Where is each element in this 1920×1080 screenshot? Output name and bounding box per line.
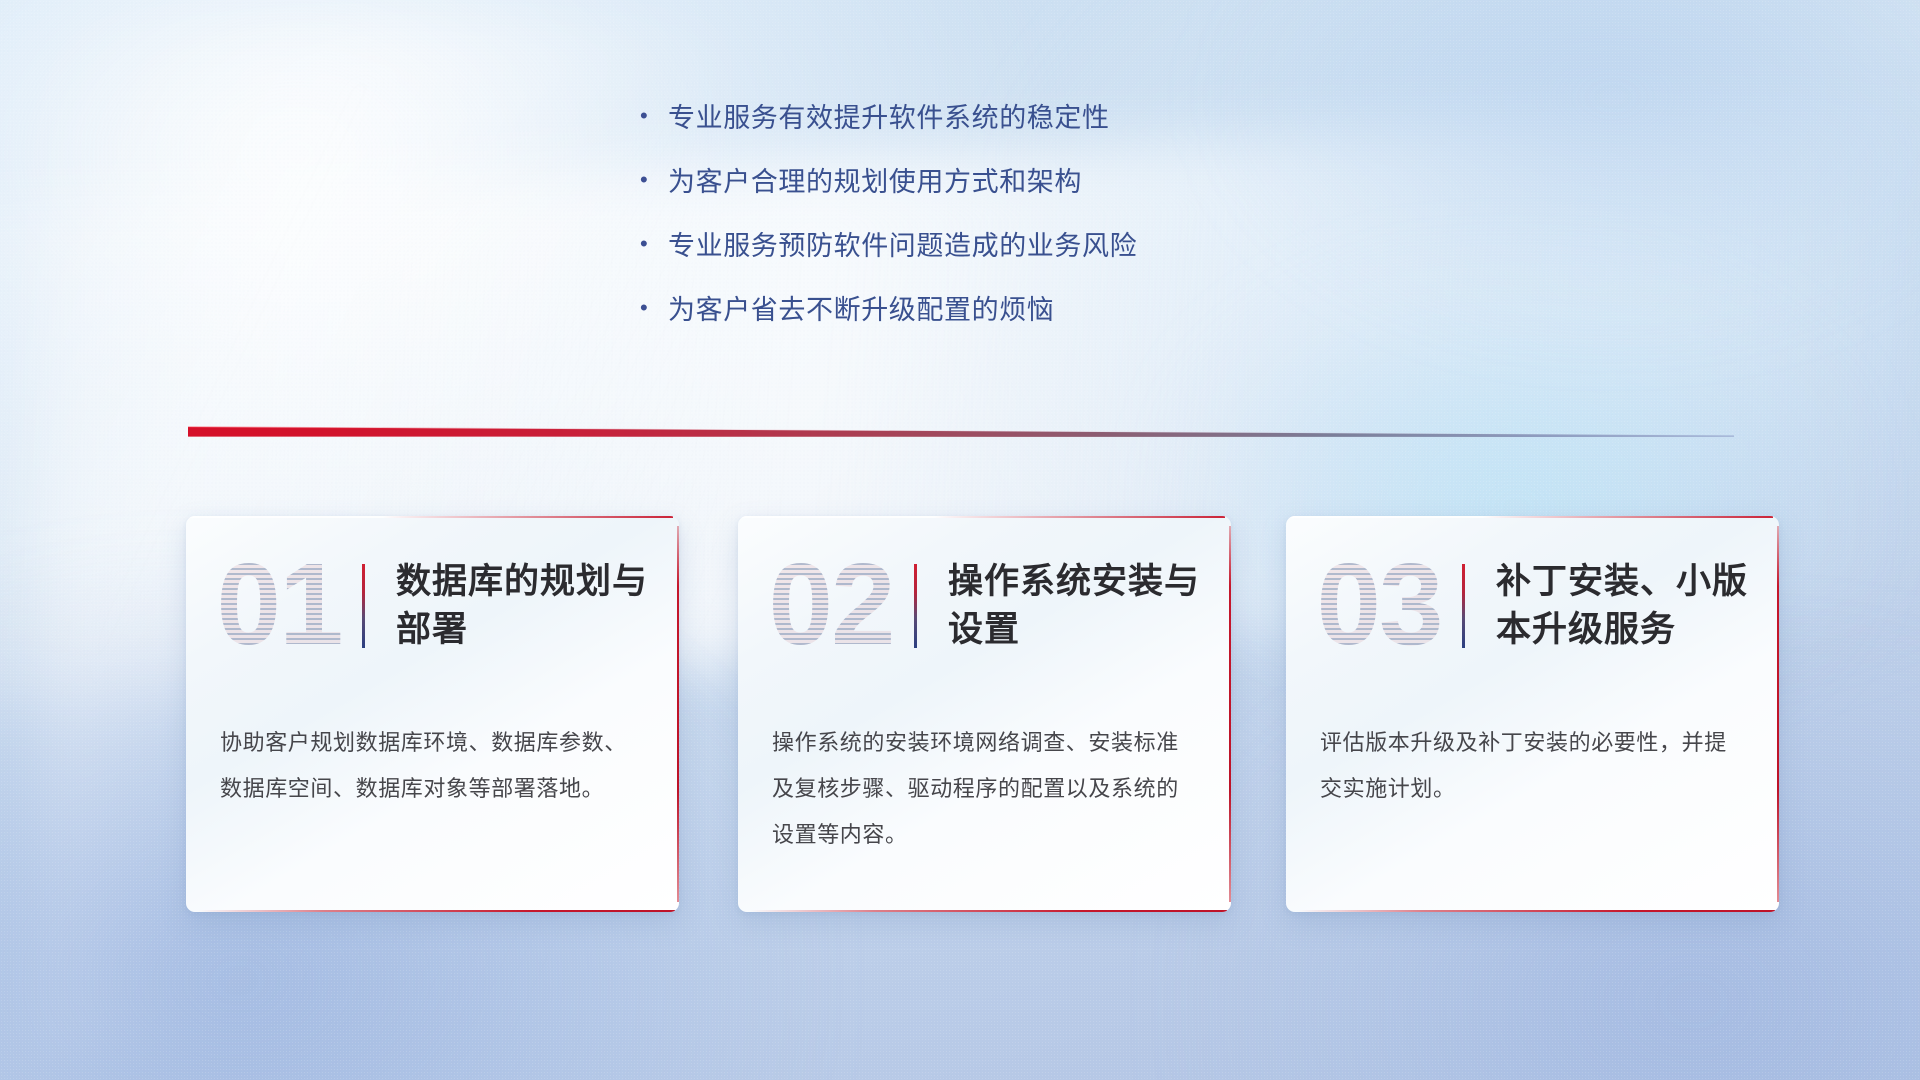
- card-title: 补丁安装、小版本升级服务: [1496, 558, 1764, 654]
- card-header: 01 01 数据库的规划与部署: [186, 516, 679, 712]
- card-title: 数据库的规划与部署: [396, 558, 664, 654]
- bullet-label: 为客户省去不断升级配置的烦恼: [668, 288, 1054, 327]
- card-edge-bottom-red: [1298, 910, 1775, 912]
- card-header: 03 03 补丁安装、小版本升级服务: [1286, 516, 1779, 712]
- section-divider: [188, 424, 1734, 450]
- bullet-item: • 为客户合理的规划使用方式和架构: [640, 160, 1400, 224]
- card-edge-bottom-red: [198, 910, 675, 912]
- card-description: 评估版本升级及补丁安装的必要性，并提交实施计划。: [1320, 720, 1743, 812]
- bullet-marker-icon: •: [640, 105, 668, 127]
- bullet-item: • 为客户省去不断升级配置的烦恼: [640, 288, 1400, 352]
- card-accent-bar: [914, 564, 917, 648]
- service-card-list: 01 01 数据库的规划与部署 协助客户规划数据库环境、数据库参数、数据库空间、…: [0, 516, 1920, 926]
- service-card[interactable]: 01 01 数据库的规划与部署 协助客户规划数据库环境、数据库参数、数据库空间、…: [186, 516, 679, 912]
- bullet-item: • 专业服务预防软件问题造成的业务风险: [640, 224, 1400, 288]
- card-header: 02 02 操作系统安装与设置: [738, 516, 1231, 712]
- card-number-watermark: 03: [1304, 538, 1454, 670]
- bullet-label: 专业服务有效提升软件系统的稳定性: [668, 96, 1110, 135]
- bullet-marker-icon: •: [640, 233, 668, 255]
- bullet-marker-icon: •: [640, 169, 668, 191]
- card-description: 操作系统的安装环境网络调查、安装标准及复核步骤、驱动程序的配置以及系统的设置等内…: [772, 720, 1195, 858]
- card-description: 协助客户规划数据库环境、数据库参数、数据库空间、数据库对象等部署落地。: [220, 720, 643, 812]
- bullet-label: 为客户合理的规划使用方式和架构: [668, 160, 1082, 199]
- card-title: 操作系统安装与设置: [948, 558, 1216, 654]
- bullet-marker-icon: •: [640, 297, 668, 319]
- card-edge-bottom-red: [750, 910, 1227, 912]
- card-accent-bar: [362, 564, 365, 648]
- bullet-label: 专业服务预防软件问题造成的业务风险: [668, 224, 1137, 263]
- service-card[interactable]: 03 03 补丁安装、小版本升级服务 评估版本升级及补丁安装的必要性，并提交实施…: [1286, 516, 1779, 912]
- bullet-item: • 专业服务有效提升软件系统的稳定性: [640, 96, 1400, 160]
- card-accent-bar: [1462, 564, 1465, 648]
- benefits-bullet-list: • 专业服务有效提升软件系统的稳定性 • 为客户合理的规划使用方式和架构 • 专…: [640, 96, 1400, 352]
- card-number-watermark: 01: [204, 538, 354, 670]
- divider-tapered-line-icon: [188, 424, 1734, 450]
- card-number-watermark: 02: [756, 538, 906, 670]
- service-card[interactable]: 02 02 操作系统安装与设置 操作系统的安装环境网络调查、安装标准及复核步骤、…: [738, 516, 1231, 912]
